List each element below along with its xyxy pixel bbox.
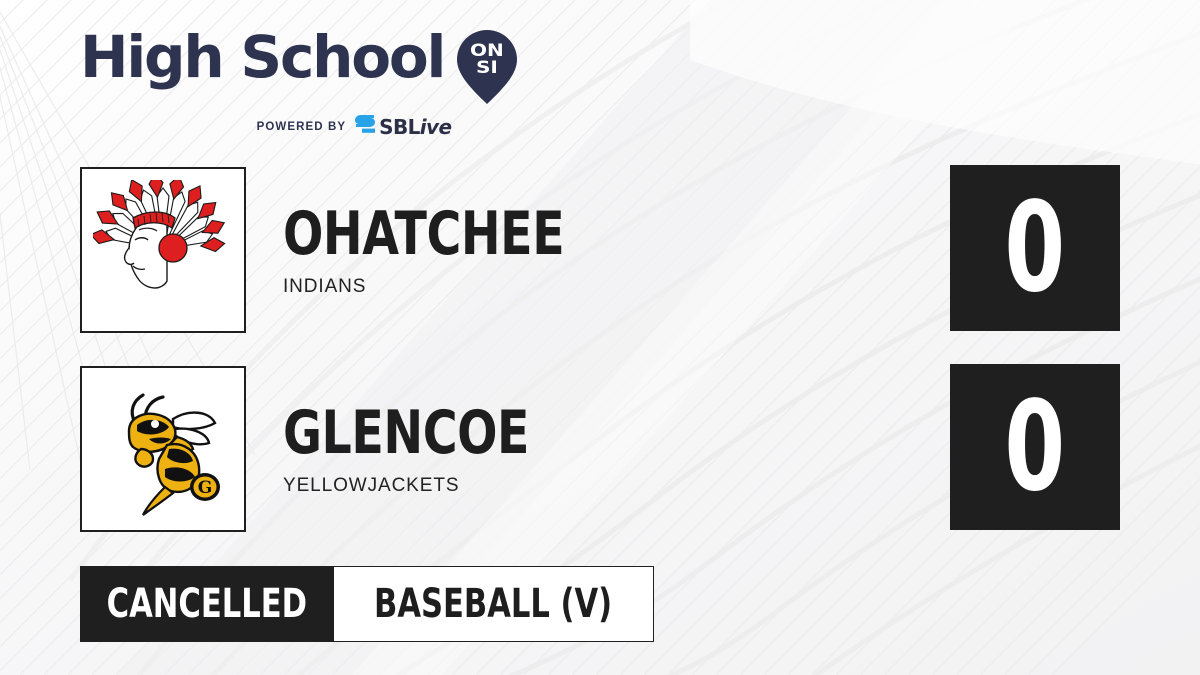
team-2-name: GLENCOE <box>283 403 529 463</box>
team-1-name: OHATCHEE <box>283 204 564 264</box>
on-si-pin-icon: ON SI <box>456 29 518 105</box>
brand-title: High School <box>80 28 444 86</box>
sblive-logo: SBLive <box>354 114 451 139</box>
svg-text:G: G <box>198 478 213 498</box>
team-row-2: G GLENCOE YELLOWJACKETS <box>80 364 563 534</box>
status-bar: CANCELLED BASEBALL (V) <box>80 566 654 642</box>
team-2-score: 0 <box>1005 391 1066 503</box>
yellowjacket-mascot-logo-icon: G <box>93 379 233 519</box>
brand-lockup: High School ON SI POWERED BY <box>80 28 510 138</box>
sport-label: BASEBALL (V) <box>374 584 612 624</box>
team-1-logo-box <box>80 167 246 333</box>
sblive-wordmark: SBLive <box>379 117 451 137</box>
sport-badge: BASEBALL (V) <box>334 566 654 642</box>
sblive-bolt-icon <box>354 114 376 139</box>
team-row-1: OHATCHEE INDIANS <box>80 165 603 335</box>
pin-label-si: SI <box>476 58 498 77</box>
scoreboard: High School ON SI POWERED BY <box>0 0 1200 675</box>
game-status-badge: CANCELLED <box>80 566 334 642</box>
team-2-text: GLENCOE YELLOWJACKETS <box>283 403 563 495</box>
team-1-text: OHATCHEE INDIANS <box>283 204 603 296</box>
powered-by-label: POWERED BY <box>257 121 347 133</box>
sblive-word-italic: ive <box>420 115 452 139</box>
team-1-score-box: 0 <box>950 165 1120 331</box>
team-2-mascot: YELLOWJACKETS <box>283 476 563 495</box>
indian-chief-head-logo-icon <box>93 180 233 320</box>
sblive-word-bold: SBL <box>379 115 420 139</box>
team-1-score: 0 <box>1005 192 1066 304</box>
team-1-mascot: INDIANS <box>283 277 603 296</box>
game-status-label: CANCELLED <box>107 584 307 624</box>
team-2-score-box: 0 <box>950 364 1120 530</box>
powered-by-lockup: POWERED BY SBLive <box>80 114 510 139</box>
team-2-logo-box: G <box>80 366 246 532</box>
